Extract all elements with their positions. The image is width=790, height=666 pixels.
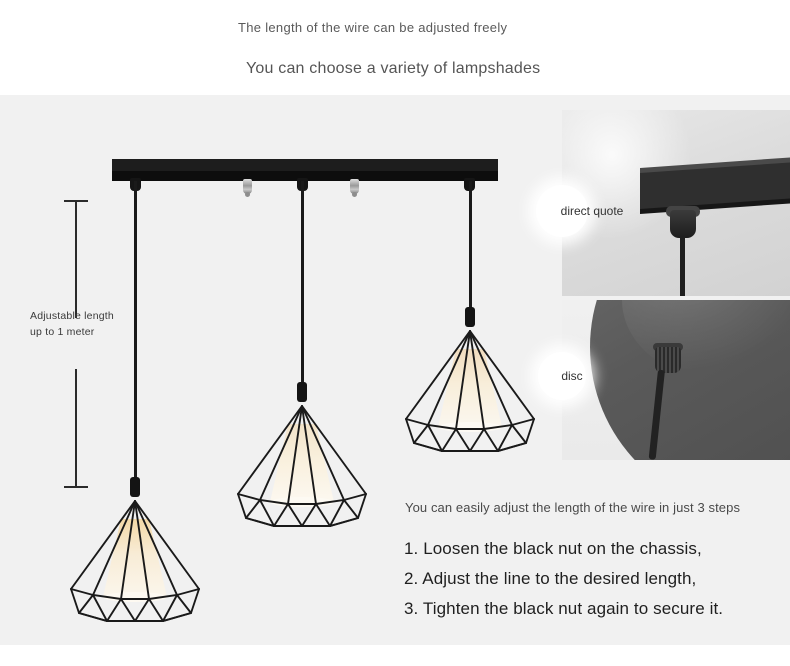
pendant-right-cord [469, 181, 472, 311]
instructions-intro: You can easily adjust the length of the … [405, 500, 740, 515]
callout-disc: disc [538, 352, 586, 400]
pendant-middle-cage [222, 398, 382, 533]
instruction-step-1: 1. Loosen the black nut on the chassis, [404, 534, 784, 564]
disc-canopy-photo [562, 300, 790, 460]
hanging-wire [680, 236, 685, 296]
instruction-step-2: 2. Adjust the line to the desired length… [404, 564, 784, 594]
ceiling-plate-photo [562, 110, 790, 296]
callout-direct-quote-label: direct quote [561, 204, 624, 218]
pendant-left-cage [55, 493, 215, 628]
footer-band [0, 645, 790, 666]
headline-secondary: You can choose a variety of lampshades [246, 60, 540, 78]
black-nut [670, 210, 696, 238]
pendant-middle-cord [301, 181, 304, 386]
headline-primary: The length of the wire can be adjusted f… [238, 20, 507, 35]
pendant-left [55, 181, 215, 621]
pendant-middle [222, 181, 382, 541]
product-infographic: The length of the wire can be adjusted f… [0, 0, 790, 666]
header-band: The length of the wire can be adjusted f… [0, 0, 790, 95]
instruction-step-3: 3. Tighten the black nut again to secure… [404, 594, 784, 624]
bar-face [112, 159, 498, 171]
instructions-list: 1. Loosen the black nut on the chassis, … [404, 534, 784, 624]
pendant-right [390, 181, 550, 471]
pendant-right-cage [390, 323, 550, 458]
callout-direct-quote: direct quote [536, 185, 588, 237]
pendant-left-cord [134, 181, 137, 481]
callout-disc-label: disc [561, 369, 582, 383]
